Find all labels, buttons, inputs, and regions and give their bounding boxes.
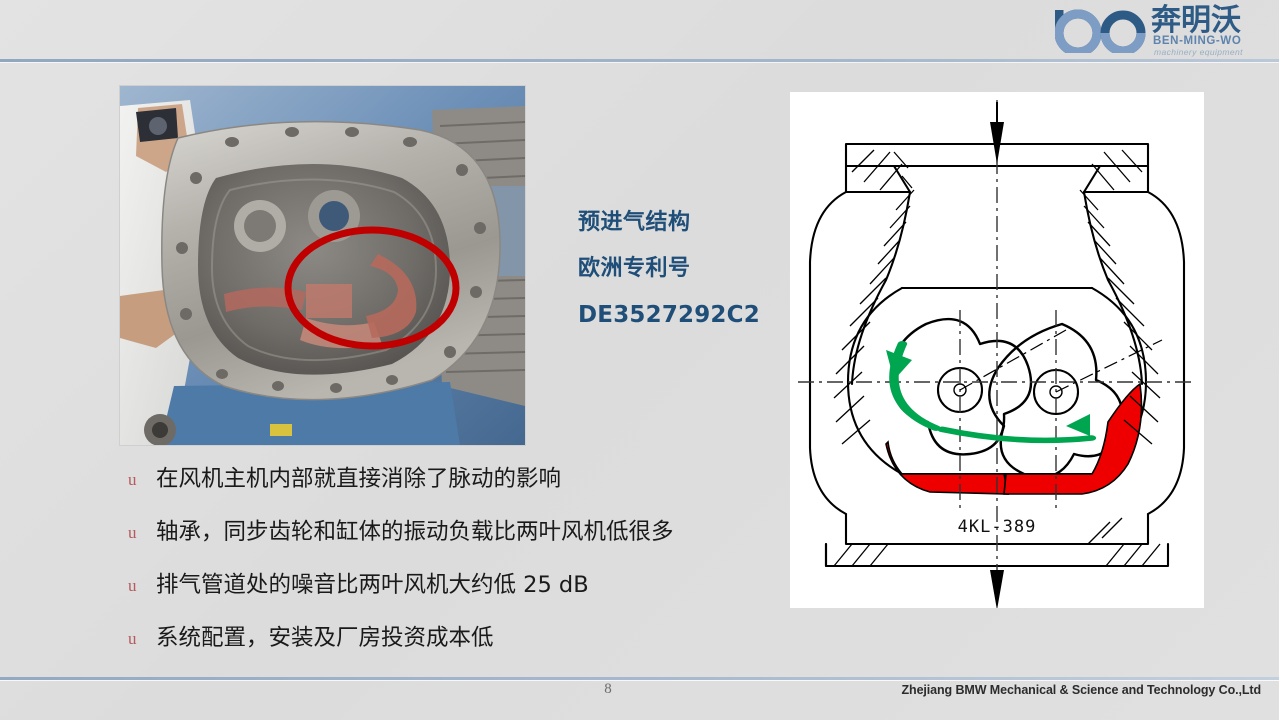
heading-line-1: 预进气结构: [578, 200, 808, 246]
bullet-text: 在风机主机内部就直接消除了脉动的影响: [156, 462, 561, 496]
list-item: u 在风机主机内部就直接消除了脉动的影响: [120, 462, 760, 515]
diagram-part-label: 4KL-389: [958, 517, 1037, 537]
bullet-marker-icon: u: [128, 576, 137, 596]
company-logo: 奔明沃 BEN-MING-WO machinery equipment: [1047, 2, 1267, 58]
list-item: u 排气管道处的噪音比两叶风机大约低 25 dB: [120, 568, 760, 621]
bullet-text: 系统配置，安装及厂房投资成本低: [156, 621, 494, 655]
patent-heading: 预进气结构 欧洲专利号 DE3527292C2: [578, 200, 808, 338]
footer-divider: [0, 677, 1279, 680]
bullet-marker-icon: u: [128, 470, 137, 490]
technical-drawing-panel: 4KL-389: [790, 92, 1204, 608]
logo-english-name: BEN-MING-WO: [1153, 35, 1241, 47]
feature-bullet-list: u 在风机主机内部就直接消除了脉动的影响 u 轴承，同步齿轮和缸体的振动负载比两…: [120, 462, 760, 674]
bullet-marker-icon: u: [128, 523, 137, 543]
bullet-text: 排气管道处的噪音比两叶风机大约低 25 dB: [156, 568, 589, 602]
list-item: u 系统配置，安装及厂房投资成本低: [120, 621, 760, 674]
heading-line-2: 欧洲专利号: [578, 246, 808, 292]
logo-chinese-name: 奔明沃: [1151, 4, 1241, 38]
header-divider: [0, 59, 1279, 62]
list-item: u 轴承，同步齿轮和缸体的振动负载比两叶风机低很多: [120, 515, 760, 568]
footer-company-name: Zhejiang BMW Mechanical & Science and Te…: [902, 683, 1262, 697]
heading-patent-number: DE3527292C2: [578, 292, 808, 338]
blower-casing-photo: [120, 86, 525, 445]
bullet-text: 轴承，同步齿轮和缸体的振动负载比两叶风机低很多: [156, 515, 674, 549]
page-number: 8: [596, 681, 620, 698]
slide-canvas: 奔明沃 BEN-MING-WO machinery equipment: [0, 0, 1279, 720]
bullet-marker-icon: u: [128, 629, 137, 649]
blower-cross-section-diagram: 4KL-389: [790, 92, 1204, 608]
logo-tagline: machinery equipment: [1154, 47, 1243, 57]
bo-monogram-icon: [1055, 7, 1151, 53]
